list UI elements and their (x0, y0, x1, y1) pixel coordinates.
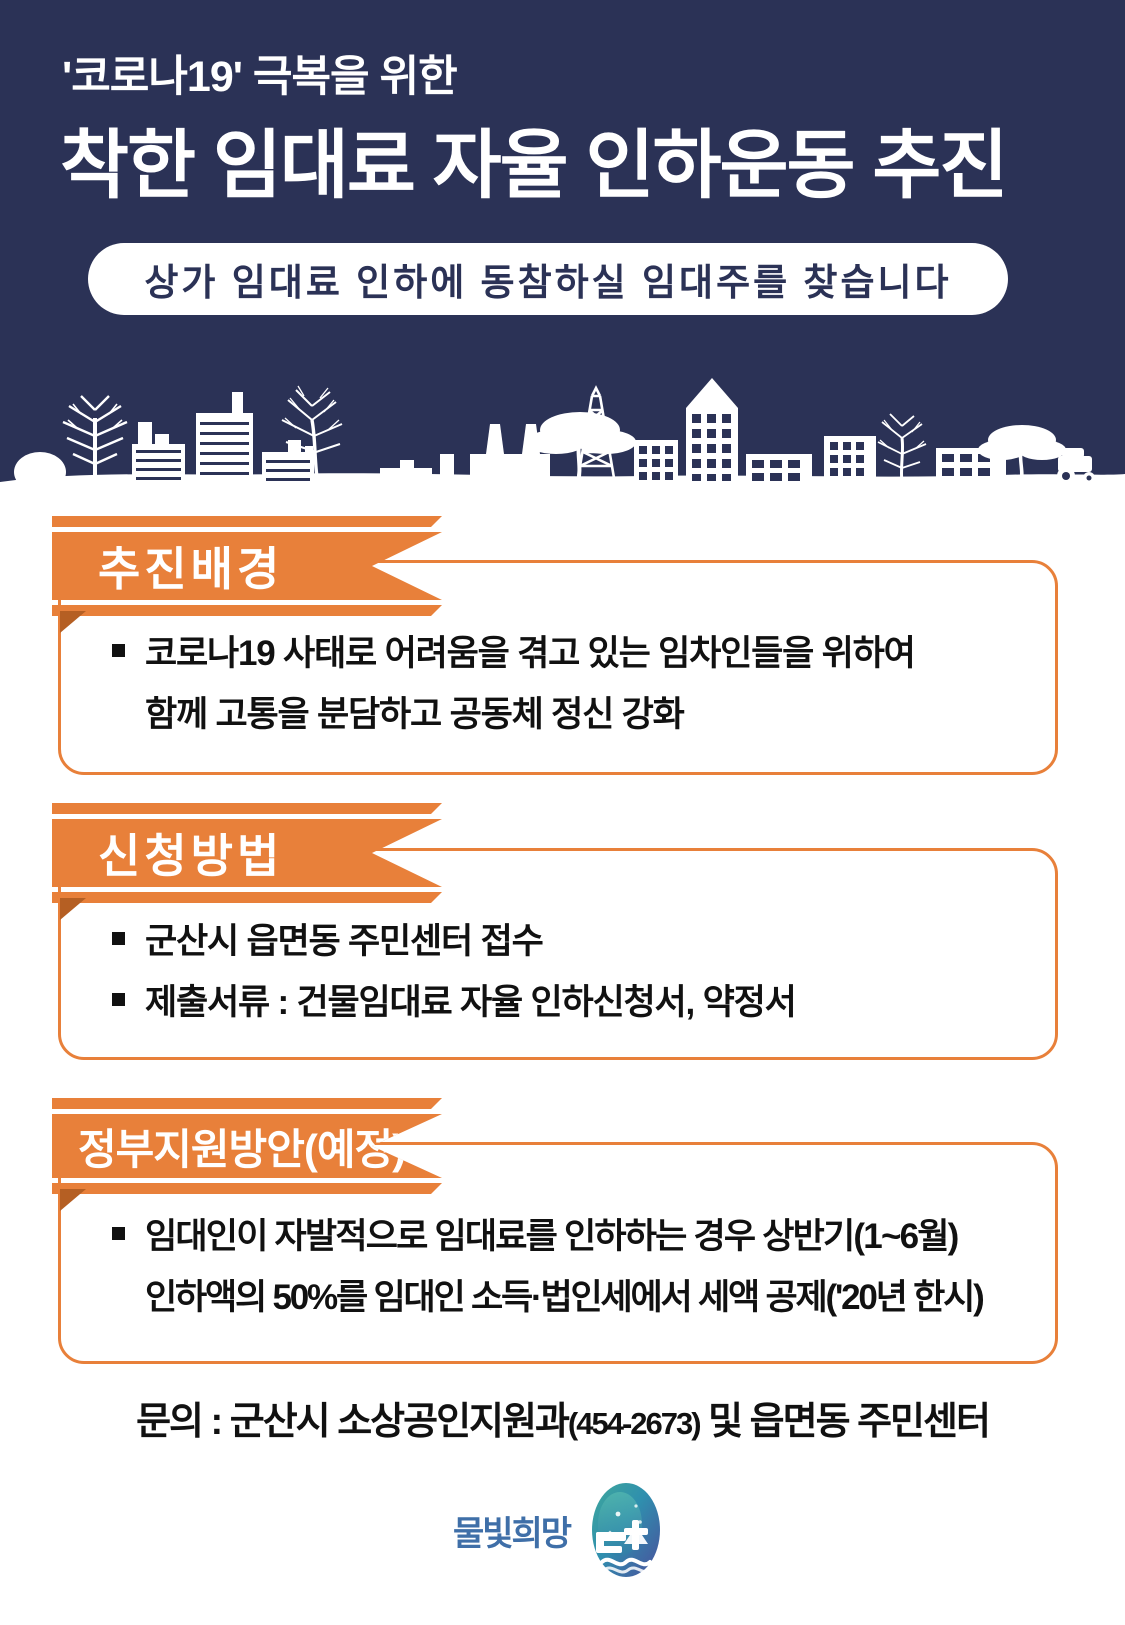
bullet-square-icon (112, 644, 125, 657)
gunsan-city-emblem-icon (580, 1480, 672, 1580)
logo-slogan: 물빛희망 (453, 1506, 570, 1555)
poster-root: '코로나19' 극복을 위한 착한 임대료 자율 인하운동 추진 상가 임대료 … (0, 0, 1125, 1625)
list-item: 코로나19 사태로 어려움을 겪고 있는 임차인들을 위하여 (112, 625, 915, 682)
section-1-line-1: 코로나19 사태로 어려움을 겪고 있는 임차인들을 위하여 (145, 625, 915, 682)
ribbon-bottom-bar (52, 1183, 442, 1194)
header-kicker: '코로나19' 극복을 위한 (62, 42, 457, 104)
page-title: 착한 임대료 자율 인하운동 추진 (60, 104, 1006, 213)
section-2-bullet-2: 제출서류 : 건물임대료 자율 인하신청서, 약정서 (145, 974, 796, 1031)
section-1-label: 추진배경 (98, 533, 283, 599)
ribbon-body: 추진배경 (52, 532, 442, 600)
contact-prefix: 문의 : 군산시 소상공인지원과 (136, 1401, 568, 1443)
ribbon-bottom-bar (52, 892, 442, 903)
section-3-label: 정부지원방안(예정) (78, 1116, 405, 1177)
ribbon-body: 정부지원방안(예정) (52, 1114, 442, 1178)
ribbon-body: 신청방법 (52, 819, 442, 887)
ribbon-top-bar (52, 803, 442, 814)
section-1-body: 코로나19 사태로 어려움을 겪고 있는 임차인들을 위하여 함께 고통을 분담… (112, 625, 915, 743)
header-banner-pill: 상가 임대료 인하에 동참하실 임대주를 찾습니다 (88, 243, 1008, 315)
list-item: 군산시 읍면동 주민센터 접수 (112, 913, 796, 970)
section-3-body: 임대인이 자발적으로 임대료를 인하하는 경우 상반기(1~6월) 인하액의 5… (112, 1208, 983, 1326)
section-2-ribbon: 신청방법 (52, 803, 442, 903)
bullet-square-icon (112, 1227, 125, 1240)
ribbon-top-bar (52, 1098, 442, 1109)
contact-suffix: 및 읍면동 주민센터 (700, 1401, 989, 1443)
bullet-square-icon (112, 932, 125, 945)
header-banner-text: 상가 임대료 인하에 동참하실 임대주를 찾습니다 (144, 252, 951, 306)
list-item: 제출서류 : 건물임대료 자율 인하신청서, 약정서 (112, 974, 796, 1031)
section-3-ribbon: 정부지원방안(예정) (52, 1098, 442, 1194)
list-item: 임대인이 자발적으로 임대료를 인하하는 경우 상반기(1~6월) (112, 1208, 983, 1265)
footer-contact-line: 문의 : 군산시 소상공인지원과(454-2673) 및 읍면동 주민센터 (0, 1390, 1125, 1445)
section-3-line-1: 임대인이 자발적으로 임대료를 인하하는 경우 상반기(1~6월) (145, 1208, 958, 1265)
city-logo: 물빛희망 (0, 1480, 1125, 1580)
poster-header: '코로나19' 극복을 위한 착한 임대료 자율 인하운동 추진 상가 임대료 … (0, 0, 1125, 490)
bullet-square-icon (112, 993, 125, 1006)
ribbon-bottom-bar (52, 605, 442, 616)
section-1-ribbon: 추진배경 (52, 516, 442, 616)
city-skyline-illustration (0, 350, 1125, 490)
section-2-label: 신청방법 (98, 820, 283, 886)
contact-phone: (454-2673) (568, 1406, 700, 1441)
section-2-bullet-1: 군산시 읍면동 주민센터 접수 (145, 913, 543, 970)
ribbon-top-bar (52, 516, 442, 527)
section-1-line-2: 함께 고통을 분담하고 공동체 정신 강화 (145, 686, 915, 743)
section-3-line-2: 인하액의 50%를 임대인 소득·법인세에서 세액 공제('20년 한시) (145, 1269, 983, 1326)
section-2-body: 군산시 읍면동 주민센터 접수 제출서류 : 건물임대료 자율 인하신청서, 약… (112, 913, 796, 1035)
